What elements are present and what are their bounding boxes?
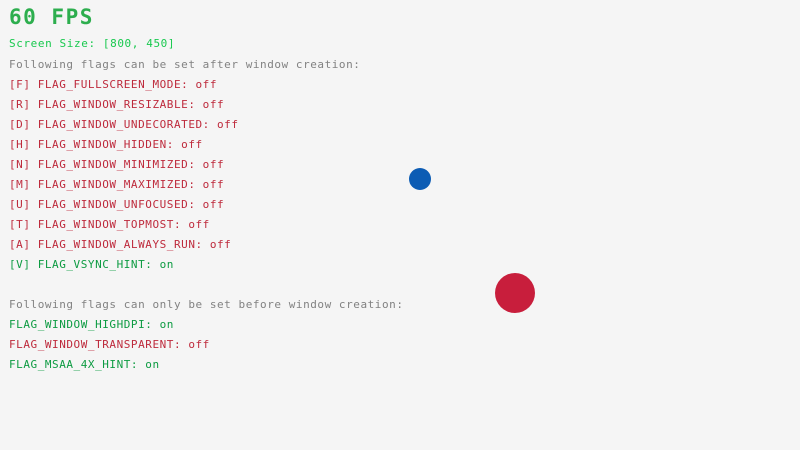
flag-row[interactable]: [N] FLAG_WINDOW_MINIMIZED: off [9, 158, 224, 171]
flag-row[interactable]: FLAG_WINDOW_HIGHDPI: on [9, 318, 174, 331]
flag-row[interactable]: [D] FLAG_WINDOW_UNDECORATED: off [9, 118, 239, 131]
screen-size-label: Screen Size: [800, 450] [9, 37, 175, 50]
flag-row[interactable]: [F] FLAG_FULLSCREEN_MODE: off [9, 78, 217, 91]
flag-row[interactable]: [M] FLAG_WINDOW_MAXIMIZED: off [9, 178, 224, 191]
flag-row[interactable]: FLAG_MSAA_4X_HINT: on [9, 358, 160, 371]
blue-circle-shape [409, 168, 431, 190]
fps-counter: 60 FPS [9, 5, 94, 30]
flag-row[interactable]: FLAG_WINDOW_TRANSPARENT: off [9, 338, 210, 351]
red-circle-shape [495, 273, 535, 313]
flag-row[interactable]: [V] FLAG_VSYNC_HINT: on [9, 258, 174, 271]
flag-row[interactable]: [R] FLAG_WINDOW_RESIZABLE: off [9, 98, 224, 111]
creation-flags-header: Following flags can only be set before w… [9, 298, 404, 311]
flag-row[interactable]: [A] FLAG_WINDOW_ALWAYS_RUN: off [9, 238, 231, 251]
runtime-flags-header: Following flags can be set after window … [9, 58, 360, 71]
flag-row[interactable]: [T] FLAG_WINDOW_TOPMOST: off [9, 218, 210, 231]
flag-row[interactable]: [H] FLAG_WINDOW_HIDDEN: off [9, 138, 203, 151]
raylib-window-flags-canvas: 60 FPS Screen Size: [800, 450] Following… [0, 0, 800, 450]
flag-row[interactable]: [U] FLAG_WINDOW_UNFOCUSED: off [9, 198, 224, 211]
